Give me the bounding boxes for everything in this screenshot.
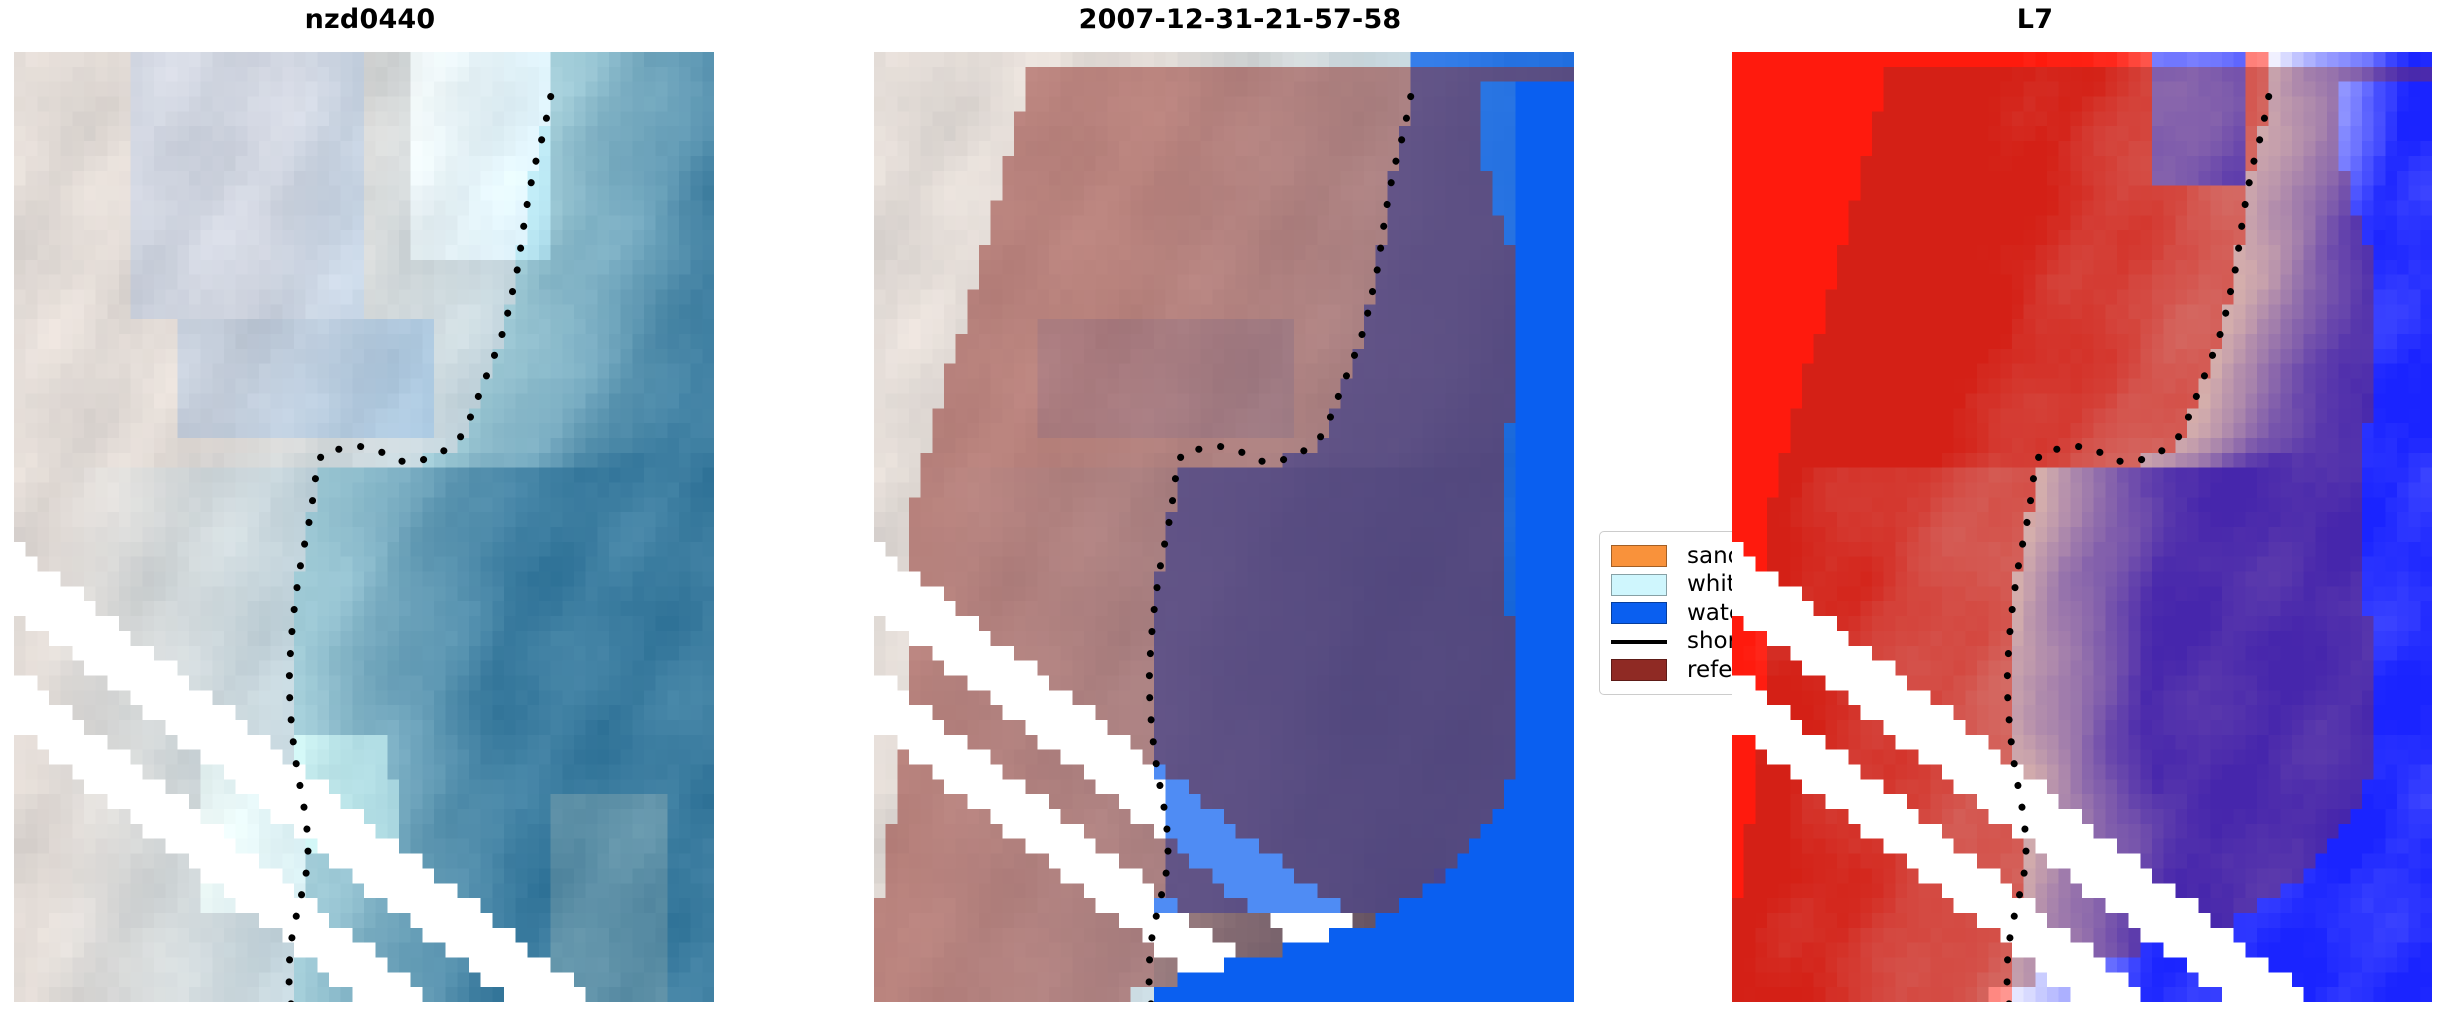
panel-title-index: L7 xyxy=(1640,6,2430,33)
panel-title-classified: 2007-12-31-21-57-58 xyxy=(740,6,1740,33)
axes-index[interactable] xyxy=(1732,52,2432,1002)
panel-nzd0440: nzd0440 xyxy=(0,0,740,1016)
panel-l7: L7 xyxy=(1640,0,2460,1016)
shoreline-overlay-classified xyxy=(874,52,1574,1002)
shoreline-overlay-index xyxy=(1732,52,2432,1002)
shoreline-overlay-rgb xyxy=(14,52,714,1002)
axes-rgb[interactable] xyxy=(14,52,714,1002)
panel-title-rgb: nzd0440 xyxy=(0,6,740,33)
figure-canvas: nzd0440 2007-12-31-21-57-58 sand xyxy=(0,0,2460,1016)
panel-classified: 2007-12-31-21-57-58 xyxy=(740,0,1640,1016)
axes-classified[interactable] xyxy=(874,52,1574,1002)
